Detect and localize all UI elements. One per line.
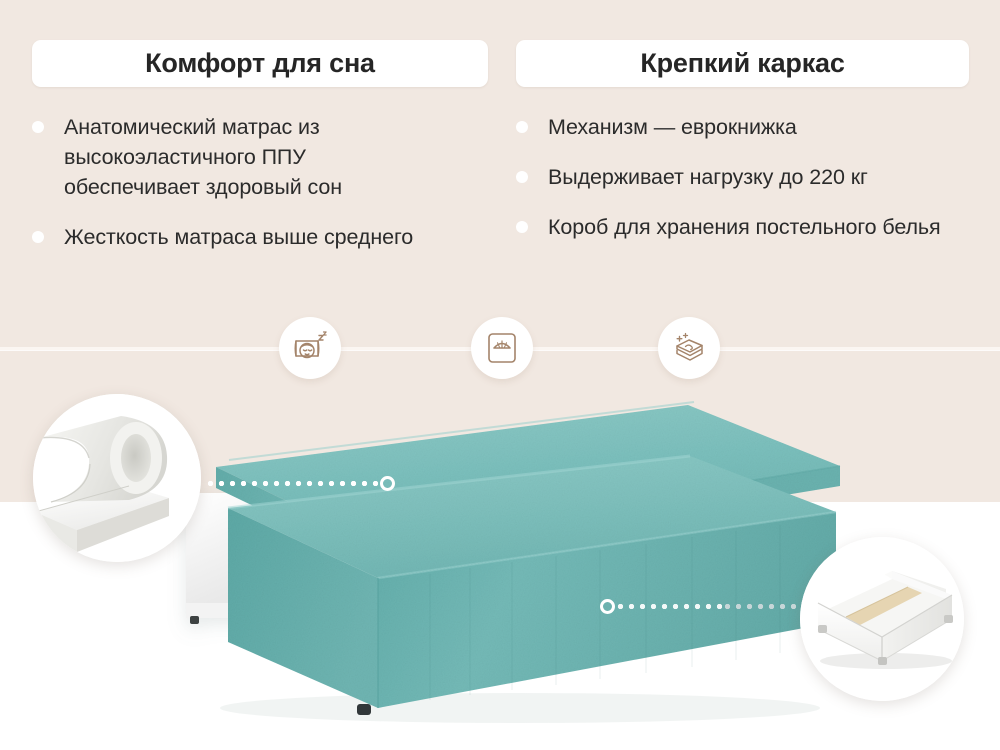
- list-item-label: Жесткость матраса выше среднего: [64, 222, 413, 252]
- callout-connector-storage: [600, 598, 800, 614]
- bullet-dot-icon: [516, 171, 528, 183]
- product-feature-banner: Комфорт для сна Крепкий каркас Анатомиче…: [0, 0, 1000, 750]
- foam-roll-image: [33, 394, 201, 562]
- connector-dotted-line: [205, 481, 380, 486]
- callout-connector-foam: [205, 475, 395, 491]
- storage-box-image: [800, 537, 964, 701]
- list-item: Выдерживает нагрузку до 220 кг: [516, 162, 986, 192]
- list-item-label: Короб для хранения постельного белья: [548, 212, 941, 242]
- feature-list-comfort: Анатомический матрас из высокоэластичног…: [32, 112, 442, 272]
- list-item: Жесткость матраса выше среднего: [32, 222, 442, 252]
- bullet-dot-icon: [516, 221, 528, 233]
- storage-box-callout: [800, 537, 964, 701]
- bullet-dot-icon: [32, 231, 44, 243]
- list-item-label: Механизм — еврокнижка: [548, 112, 797, 142]
- list-item: Механизм — еврокнижка: [516, 112, 986, 142]
- bullet-dot-icon: [32, 121, 44, 133]
- connector-dotted-line-fade: [722, 604, 800, 609]
- section-header-frame: Крепкий каркас: [516, 40, 969, 87]
- sofa-caster: [357, 704, 371, 715]
- connector-dotted-line: [615, 604, 722, 609]
- list-item: Анатомический матрас из высокоэластичног…: [32, 112, 442, 202]
- foam-roll-callout: [33, 394, 201, 562]
- connector-anchor-ring: [380, 476, 395, 491]
- list-item: Короб для хранения постельного белья: [516, 212, 986, 242]
- section-title-text: Комфорт для сна: [145, 48, 375, 79]
- bullet-dot-icon: [516, 121, 528, 133]
- section-title-text: Крепкий каркас: [640, 48, 844, 79]
- list-item-label: Выдерживает нагрузку до 220 кг: [548, 162, 868, 192]
- connector-anchor-ring: [600, 599, 615, 614]
- list-item-label: Анатомический матрас из высокоэластичног…: [64, 112, 442, 202]
- feature-list-frame: Механизм — еврокнижка Выдерживает нагруз…: [516, 112, 986, 262]
- section-header-comfort: Комфорт для сна: [32, 40, 488, 87]
